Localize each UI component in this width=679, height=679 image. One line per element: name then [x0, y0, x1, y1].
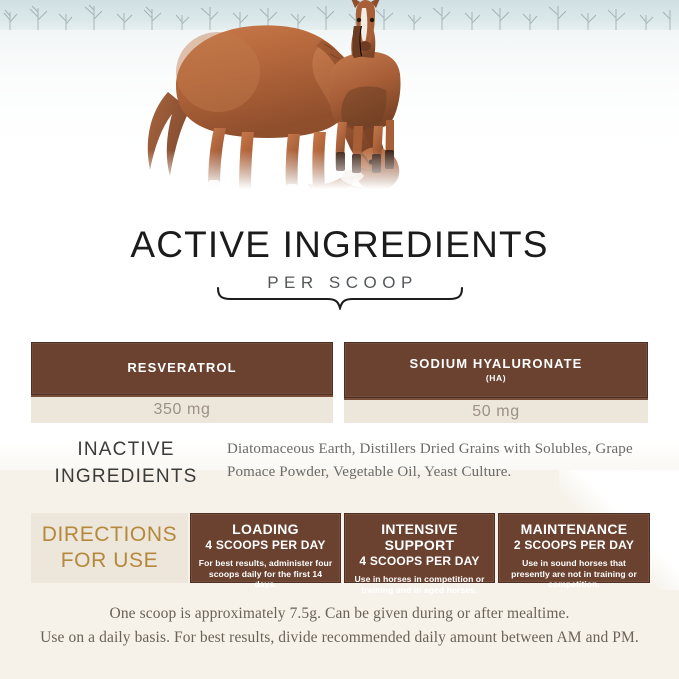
curly-brace-icon: [215, 286, 465, 310]
ingredient-name: RESVERATROL: [127, 361, 236, 375]
directions-panel-maintenance: MAINTENANCE 2 SCOOPS PER DAY Use in soun…: [498, 513, 650, 583]
inactive-ingredients-label: INACTIVE INGREDIENTS: [31, 436, 221, 491]
hero-bottom-fade: [0, 150, 679, 196]
panel-dose: 4 SCOOPS PER DAY: [351, 555, 488, 569]
panel-heading: LOADING: [197, 521, 334, 537]
ingredient-amount: 50 mg: [344, 398, 648, 423]
directions-for-use-section: DIRECTIONS FOR USE LOADING 4 SCOOPS PER …: [31, 513, 650, 583]
directions-title: DIRECTIONS FOR USE: [31, 513, 188, 583]
panel-dose: 2 SCOOPS PER DAY: [505, 539, 643, 553]
ingredient-card-resveratrol: RESVERATROL 350 mg: [31, 342, 333, 422]
panel-dose: 4 SCOOPS PER DAY: [197, 539, 334, 553]
brace-ornament-wrap: [0, 286, 679, 312]
ingredient-amount: 350 mg: [31, 395, 333, 423]
directions-title-line1: DIRECTIONS: [42, 523, 178, 546]
directions-panel-loading: LOADING 4 SCOOPS PER DAY For best result…: [190, 513, 341, 583]
page-title-block: ACTIVE INGREDIENTS PER SCOOP: [0, 226, 679, 291]
ingredient-card-sodium-hyaluronate: SODIUM HYALURONATE (HA) 50 mg: [344, 342, 648, 422]
label-page: ACTIVE INGREDIENTS PER SCOOP RESVERATROL…: [0, 0, 679, 679]
ingredient-name: SODIUM HYALURONATE: [410, 357, 583, 371]
footer-line-1: One scoop is approximately 7.5g. Can be …: [0, 602, 679, 626]
inactive-label-line2: INGREDIENTS: [54, 466, 197, 487]
panel-body: Use in horses in competition or training…: [351, 574, 488, 595]
page-title: ACTIVE INGREDIENTS: [0, 226, 679, 263]
panel-body: For best results, administer four scoops…: [197, 558, 334, 590]
footer-line-2: Use on a daily basis. For best results, …: [0, 626, 679, 650]
footer-note: One scoop is approximately 7.5g. Can be …: [0, 602, 679, 650]
inactive-label-line1: INACTIVE: [77, 439, 174, 460]
panel-body: Use in sound horses that presently are n…: [505, 558, 643, 590]
ingredient-abbreviation: (HA): [486, 374, 506, 383]
inactive-ingredients-section: INACTIVE INGREDIENTS Diatomaceous Earth,…: [31, 436, 648, 491]
panel-heading: INTENSIVE SUPPORT: [351, 521, 488, 553]
active-ingredients-row: RESVERATROL 350 mg SODIUM HYALURONATE (H…: [31, 342, 648, 422]
hero-photo: [0, 0, 679, 196]
inactive-ingredients-text: Diatomaceous Earth, Distillers Dried Gra…: [221, 436, 648, 484]
directions-panel-intensive-support: INTENSIVE SUPPORT 4 SCOOPS PER DAY Use i…: [344, 513, 495, 583]
directions-title-line2: FOR USE: [61, 549, 159, 572]
panel-heading: MAINTENANCE: [505, 521, 643, 537]
ingredient-header: RESVERATROL: [31, 342, 333, 395]
ingredient-header: SODIUM HYALURONATE (HA): [344, 342, 648, 398]
